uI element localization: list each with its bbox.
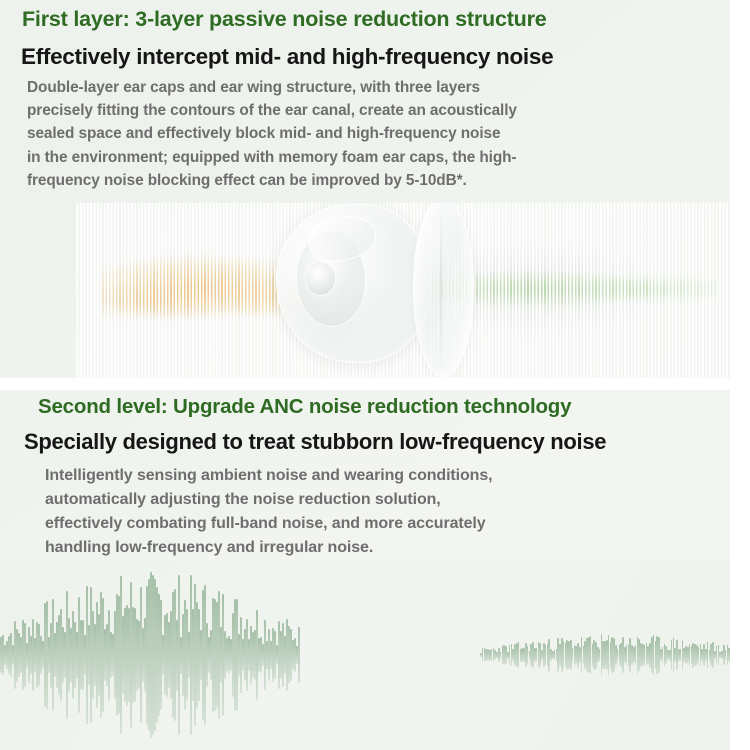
earbud-wing-seam bbox=[440, 204, 442, 369]
anc-chip-illustration: ANC bbox=[0, 560, 750, 750]
section-one-body-text: Double-layer ear caps and ear wing struc… bbox=[27, 76, 517, 192]
earbud-driver bbox=[305, 261, 336, 295]
section-one-title: First layer: 3-layer passive noise reduc… bbox=[22, 6, 547, 32]
reduced-noise-waveform bbox=[480, 560, 750, 750]
earbud-ear-wing bbox=[413, 203, 474, 378]
section-two-subtitle: Specially designed to treat stubborn low… bbox=[24, 428, 606, 456]
product-detail-page: First layer: 3-layer passive noise reduc… bbox=[0, 0, 750, 750]
loud-noise-waveform bbox=[0, 560, 300, 750]
section-two-body-text: Intelligently sensing ambient noise and … bbox=[45, 464, 493, 560]
section-one-subtitle: Effectively intercept mid- and high-freq… bbox=[21, 43, 553, 71]
section-two-title: Second level: Upgrade ANC noise reductio… bbox=[38, 394, 571, 420]
earbud-shell bbox=[276, 204, 432, 363]
earbud-illustration bbox=[75, 203, 730, 378]
right-margin-strip bbox=[730, 0, 750, 750]
section-divider bbox=[0, 378, 750, 390]
transparent-earbud-icon bbox=[272, 203, 508, 378]
